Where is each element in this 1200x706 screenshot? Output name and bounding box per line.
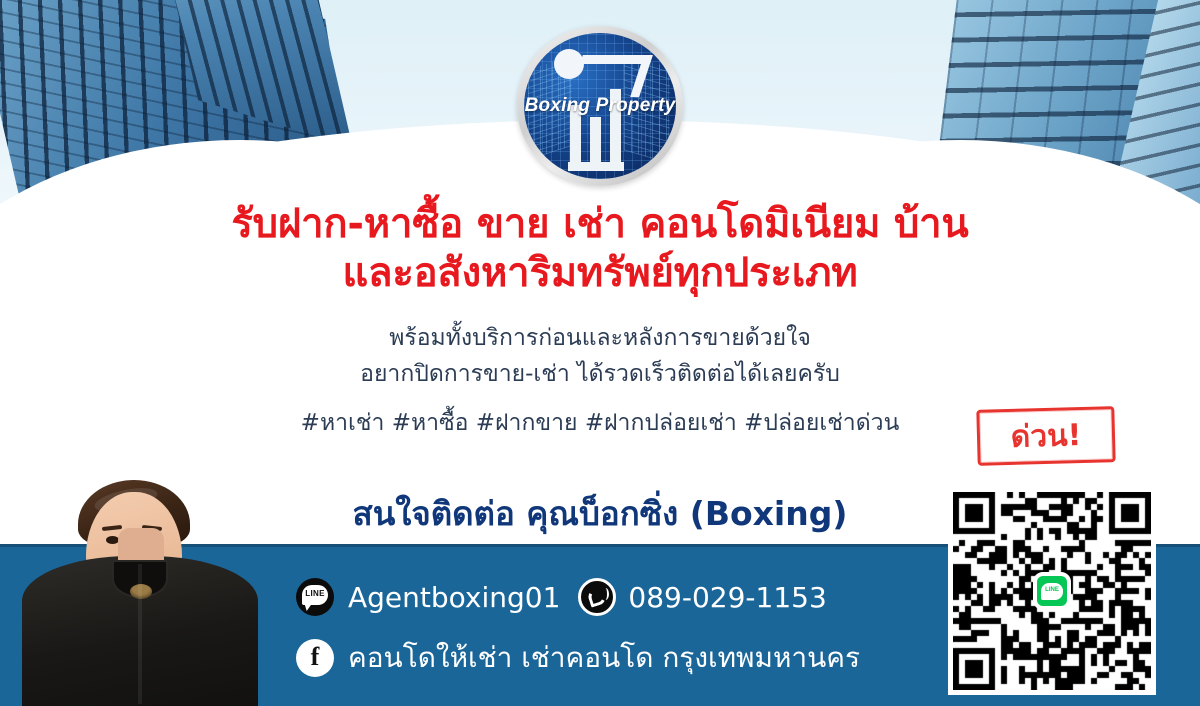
subheadline: พร้อมทั้งบริการก่อนและหลังการขายด้วยใจ อ… — [0, 320, 1200, 392]
logo-wordmark: Boxing Property — [524, 95, 676, 117]
subheadline-line-1: พร้อมทั้งบริการก่อนและหลังการขายด้วยใจ — [0, 320, 1200, 356]
poster-canvas: Boxing Property รับฝาก-หาซื้อ ขาย เช่า ค… — [0, 0, 1200, 706]
contact-row-facebook: f คอนโดให้เช่า เช่าคอนโด กรุงเทพมหานคร — [296, 636, 860, 680]
line-icon[interactable]: LINE — [296, 578, 334, 616]
qr-badge-label: LINE — [1041, 587, 1063, 593]
phone-wave-shape — [602, 588, 609, 600]
agent-portrait-photo — [14, 406, 264, 706]
portrait-shirt — [22, 556, 258, 706]
line-qr-code[interactable]: LINE — [948, 487, 1156, 695]
logo-base-shape — [568, 162, 624, 171]
subheadline-line-2: อยากปิดการขาย-เช่า ได้รวดเร็วติดต่อได้เล… — [0, 356, 1200, 392]
portrait-collar — [114, 562, 166, 596]
contact-row-line-phone: LINE Agentboxing01 089-029-1153 — [296, 578, 827, 616]
logo-pillar-2 — [590, 117, 601, 167]
phone-number-text: 089-029-1153 — [628, 581, 826, 614]
qr-line-badge-icon: LINE — [1033, 572, 1071, 610]
line-id-text: Agentboxing01 — [348, 581, 560, 614]
phone-icon[interactable] — [578, 578, 616, 616]
facebook-page-text: คอนโดให้เช่า เช่าคอนโด กรุงเทพมหานคร — [348, 636, 860, 680]
headline: รับฝาก-หาซื้อ ขาย เช่า คอนโดมิเนียม บ้าน… — [0, 200, 1200, 298]
line-icon-label: LINE — [296, 589, 334, 598]
qr-badge-bubble: LINE — [1041, 583, 1063, 600]
facebook-glyph: f — [311, 644, 320, 670]
facebook-icon[interactable]: f — [296, 639, 334, 677]
qr-matrix: LINE — [953, 492, 1151, 690]
boxing-property-logo: Boxing Property — [517, 26, 683, 186]
logo-emblem-icon: Boxing Property — [524, 33, 676, 179]
urgent-stamp-badge: ด่วน! — [976, 406, 1115, 466]
headline-line-2: และอสังหาริมทรัพย์ทุกประเภท — [0, 249, 1200, 298]
headline-line-1: รับฝาก-หาซื้อ ขาย เช่า คอนโดมิเนียม บ้าน — [0, 200, 1200, 249]
portrait-button — [130, 584, 152, 599]
